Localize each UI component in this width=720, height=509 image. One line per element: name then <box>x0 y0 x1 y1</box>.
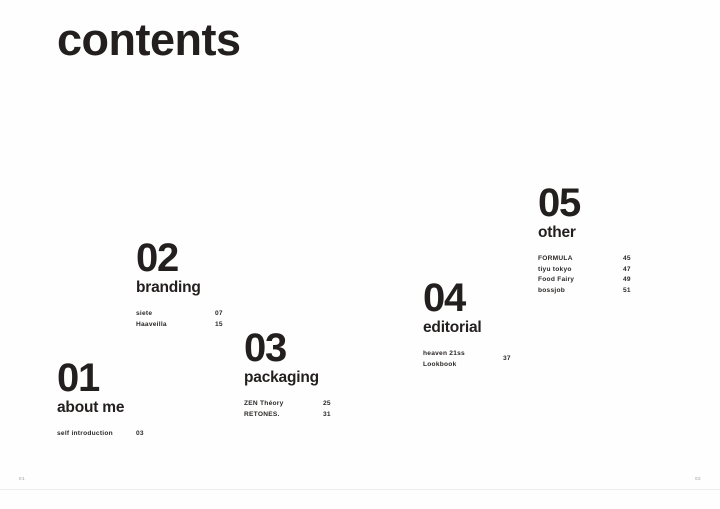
entry-label: bossjob <box>538 286 623 297</box>
entry-label: self introduction <box>57 429 136 440</box>
section-title: editorial <box>423 319 511 336</box>
entry-list: self introduction 03 <box>57 429 144 440</box>
folio-left: 01 <box>19 476 25 481</box>
contents-entry[interactable]: RETONES. 31 <box>244 410 331 421</box>
contents-entry[interactable]: FORMULA 45 <box>538 254 631 265</box>
entry-label: FORMULA <box>538 254 623 265</box>
entry-label: Food Fairy <box>538 275 623 286</box>
contents-entry[interactable]: ZEN Théory 25 <box>244 399 331 410</box>
entry-page: 51 <box>623 286 631 297</box>
section-05: 05 other FORMULA 45 tiyu tokyo 47 Food F… <box>538 185 631 297</box>
section-title: other <box>538 224 631 241</box>
entry-label: heaven 21ss Lookbook <box>423 349 502 370</box>
section-04: 04 editorial heaven 21ss Lookbook 37 <box>423 280 511 370</box>
contents-entry[interactable]: Food Fairy 49 <box>538 275 631 286</box>
entry-page: 03 <box>136 429 144 440</box>
entry-list: ZEN Théory 25 RETONES. 31 <box>244 399 331 420</box>
entry-label: Haaveilla <box>136 320 215 331</box>
entry-label: siete <box>136 309 215 320</box>
entry-list: FORMULA 45 tiyu tokyo 47 Food Fairy 49 b… <box>538 254 631 297</box>
folio-right: 02 <box>695 476 701 481</box>
entry-page: 37 <box>502 354 511 365</box>
section-01: 01 about me self introduction 03 <box>57 360 144 440</box>
entry-label: tiyu tokyo <box>538 265 623 276</box>
entry-list: heaven 21ss Lookbook 37 <box>423 349 511 370</box>
contents-entry[interactable]: self introduction 03 <box>57 429 144 440</box>
contents-page: contents 01 about me self introduction 0… <box>0 0 720 509</box>
entry-page: 31 <box>323 410 331 421</box>
contents-entry[interactable]: Haaveilla 15 <box>136 320 223 331</box>
section-title: about me <box>57 399 144 416</box>
section-number: 01 <box>57 360 144 397</box>
section-number: 05 <box>538 185 631 222</box>
page-title: contents <box>57 17 241 62</box>
section-02: 02 branding siete 07 Haaveilla 15 <box>136 240 223 330</box>
entry-page: 47 <box>623 265 631 276</box>
entry-label: RETONES. <box>244 410 323 421</box>
section-number: 02 <box>136 240 223 277</box>
entry-label: ZEN Théory <box>244 399 323 410</box>
masthead: contents <box>57 17 241 62</box>
section-title: branding <box>136 279 223 296</box>
section-03: 03 packaging ZEN Théory 25 RETONES. 31 <box>244 330 331 420</box>
section-number: 04 <box>423 280 511 317</box>
section-title: packaging <box>244 369 331 386</box>
contents-entry[interactable]: heaven 21ss Lookbook 37 <box>423 349 511 370</box>
entry-list: siete 07 Haaveilla 15 <box>136 309 223 330</box>
entry-page: 15 <box>215 320 223 331</box>
entry-page: 25 <box>323 399 331 410</box>
entry-page: 07 <box>215 309 223 320</box>
entry-page: 45 <box>623 254 631 265</box>
footer-divider <box>0 489 720 490</box>
entry-page: 49 <box>623 275 631 286</box>
contents-entry[interactable]: bossjob 51 <box>538 286 631 297</box>
section-number: 03 <box>244 330 331 367</box>
contents-entry[interactable]: siete 07 <box>136 309 223 320</box>
contents-entry[interactable]: tiyu tokyo 47 <box>538 265 631 276</box>
